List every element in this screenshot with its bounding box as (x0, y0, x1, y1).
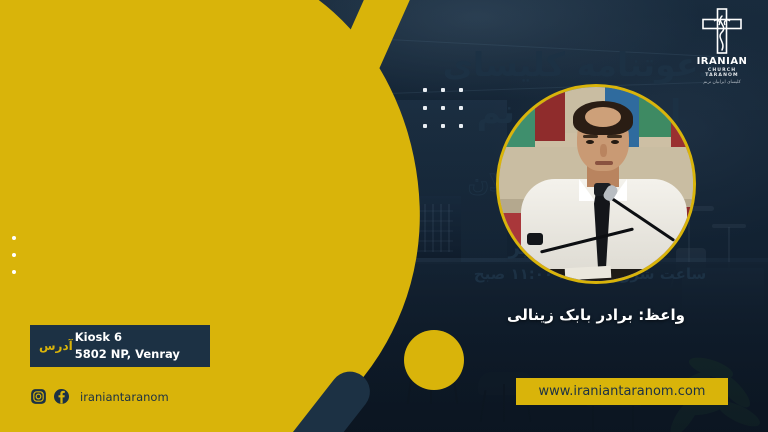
decorative-dot-grid (423, 88, 463, 128)
dot (423, 106, 427, 110)
paper-notes (565, 266, 612, 280)
dot (441, 124, 445, 128)
microphone-clip (527, 233, 543, 245)
church-logo: IRANIAN CHURCH TARANOM کلیسای ایرانیان ت… (692, 6, 752, 85)
dot (459, 106, 463, 110)
social-handle[interactable]: iraniantaranom (80, 390, 169, 404)
dot (459, 124, 463, 128)
dot (459, 88, 463, 92)
address-line-2: 5802 NP, Venray (75, 346, 201, 363)
decorative-dot-column (12, 236, 16, 274)
address-box: Kiosk 6 5802 NP, Venray آدرس (30, 325, 210, 367)
preacher-portrait (496, 84, 696, 284)
dot (441, 88, 445, 92)
instagram-icon[interactable] (30, 388, 47, 405)
logo-persian-subtitle: کلیسای ایرانیان ترنم (692, 80, 752, 85)
church-invitation-poster: دعوتنامه کلیسای ایرانیان ترنم خوشابحال پ… (0, 0, 768, 432)
dot (12, 253, 16, 257)
yellow-circle-accent (404, 330, 464, 390)
preacher-figure (499, 87, 693, 281)
logo-name: IRANIAN (692, 57, 752, 68)
social-links[interactable]: iraniantaranom (30, 388, 169, 405)
dot (441, 106, 445, 110)
eyebrow-right (607, 135, 622, 138)
headline-line-1: دعوتنامه کلیسای (424, 42, 734, 89)
mouth (595, 161, 613, 165)
dot (12, 236, 16, 240)
address-text: Kiosk 6 5802 NP, Venray (75, 329, 201, 362)
dot (12, 270, 16, 274)
website-bar[interactable]: www.iraniantaranom.com (516, 378, 728, 405)
preacher-name: واعظ: برادر بابک زینالی (488, 306, 704, 324)
eye-left (586, 140, 594, 144)
dot (423, 88, 427, 92)
eye-right (611, 140, 619, 144)
logo-subtitle: CHURCH TARANOM (692, 68, 752, 79)
eyebrow-left (583, 135, 598, 138)
dot (423, 124, 427, 128)
forehead (585, 107, 621, 127)
address-label: آدرس (39, 339, 73, 353)
website-url[interactable]: www.iraniantaranom.com (539, 384, 706, 399)
cross-icon (699, 6, 745, 56)
facebook-icon[interactable] (53, 388, 70, 405)
address-line-1: Kiosk 6 (75, 329, 201, 346)
nose (600, 144, 607, 157)
